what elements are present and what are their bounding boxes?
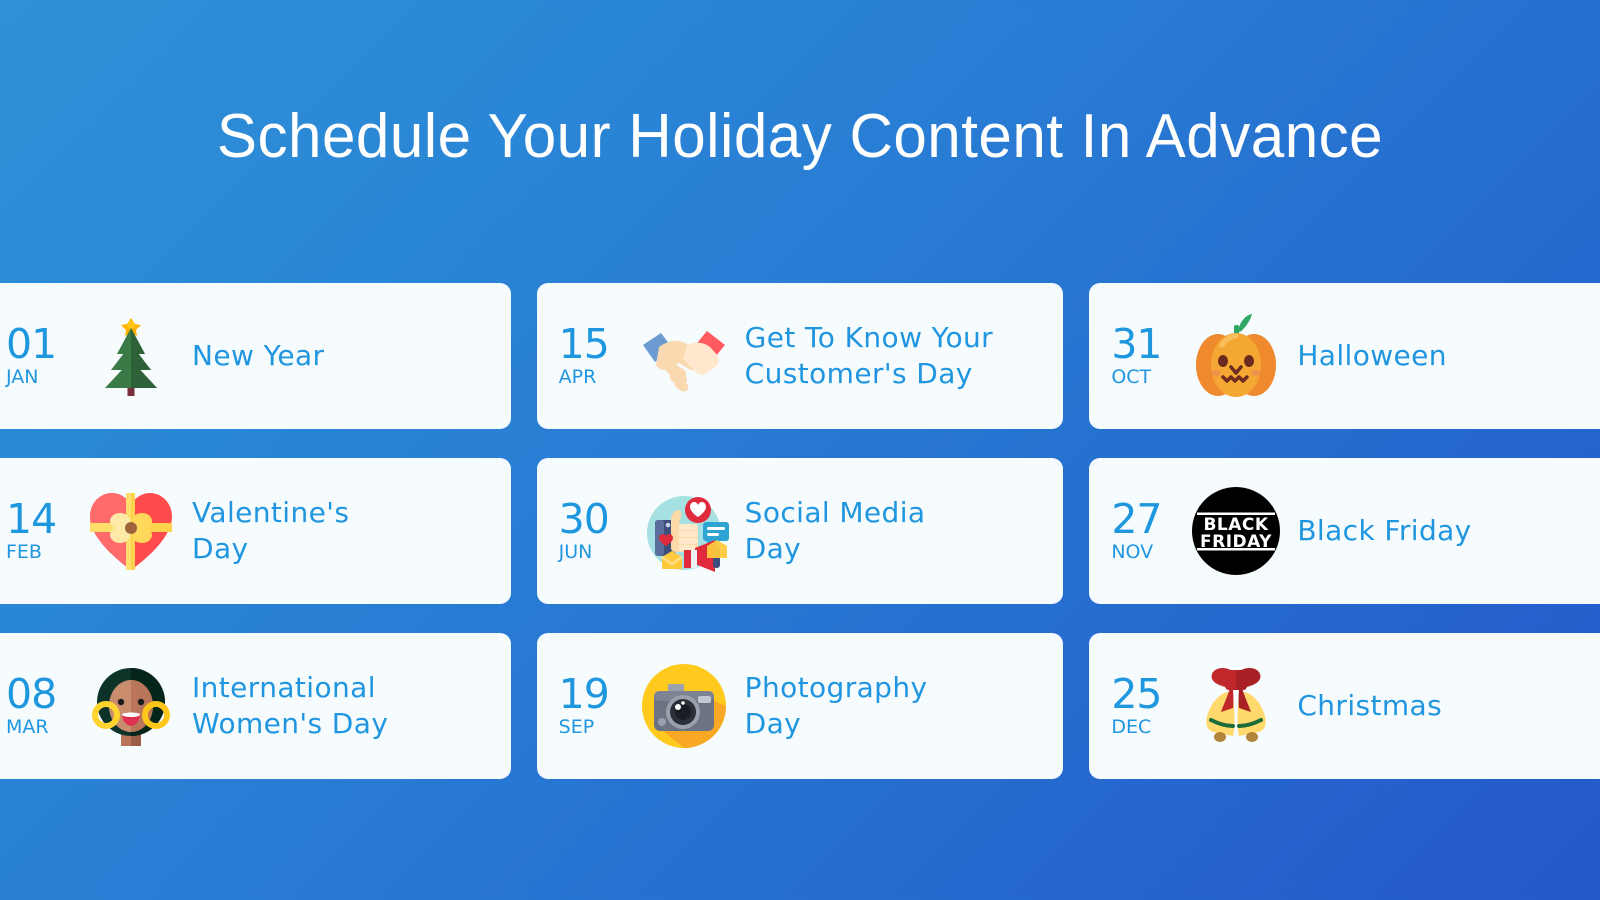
date-block: 14 FEB [6, 500, 80, 563]
date-day: 27 [1111, 500, 1185, 539]
holiday-name: Get To Know Your Customer's Day [741, 320, 1050, 392]
date-month: DEC [1111, 718, 1185, 737]
holiday-card[interactable]: 19 SEP Photography Day [537, 633, 1064, 779]
date-day: 19 [559, 675, 633, 714]
date-month: OCT [1111, 368, 1185, 387]
holiday-name: Photography Day [741, 670, 1050, 742]
holiday-card-grid: 01 JAN New Year 15 APR [0, 283, 1600, 779]
date-block: 31 OCT [1111, 325, 1185, 388]
holiday-card[interactable]: 01 JAN New Year [0, 283, 511, 429]
date-day: 25 [1111, 675, 1185, 714]
heart-with-ribbon-icon [82, 482, 180, 580]
holiday-card[interactable]: 30 JUN [537, 458, 1064, 604]
date-month: JAN [6, 368, 80, 387]
date-month: SEP [559, 718, 633, 737]
social-media-icon [635, 482, 733, 580]
header: Schedule Your Holiday Content In Advance [0, 0, 1600, 169]
handshake-icon [635, 307, 733, 405]
holiday-name: New Year [188, 338, 497, 374]
holiday-card[interactable]: 14 FEB Valentine's Day [0, 458, 511, 604]
holiday-name: Halloween [1293, 338, 1600, 374]
black-friday-badge-icon: BLACK FRIDAY [1187, 482, 1285, 580]
date-month: MAR [6, 718, 80, 737]
date-block: 30 JUN [559, 500, 633, 563]
date-month: FEB [6, 543, 80, 562]
holiday-card[interactable]: 15 APR Get To Know Your Customer's Day [537, 283, 1064, 429]
holiday-card[interactable]: 31 OCT Halloween [1089, 283, 1600, 429]
date-month: JUN [559, 543, 633, 562]
holiday-card[interactable]: 27 NOV BLACK FRIDAY Black Friday [1089, 458, 1600, 604]
camera-icon [635, 657, 733, 755]
christmas-bells-icon [1187, 657, 1285, 755]
holiday-card[interactable]: 25 DEC Christmas [1089, 633, 1600, 779]
date-block: 27 NOV [1111, 500, 1185, 563]
date-day: 08 [6, 675, 80, 714]
date-block: 15 APR [559, 325, 633, 388]
date-month: APR [559, 368, 633, 387]
date-day: 15 [559, 325, 633, 364]
holiday-name: Social Media Day [741, 495, 1050, 567]
christmas-tree-icon [82, 307, 180, 405]
date-day: 01 [6, 325, 80, 364]
jack-o-lantern-icon [1187, 307, 1285, 405]
holiday-name: International Women's Day [188, 670, 497, 742]
date-day: 30 [559, 500, 633, 539]
holiday-name: Valentine's Day [188, 495, 497, 567]
woman-icon [82, 657, 180, 755]
date-block: 08 MAR [6, 675, 80, 738]
date-month: NOV [1111, 543, 1185, 562]
date-block: 25 DEC [1111, 675, 1185, 738]
holiday-name: Black Friday [1293, 513, 1600, 549]
holiday-name: Christmas [1293, 688, 1600, 724]
date-block: 01 JAN [6, 325, 80, 388]
date-block: 19 SEP [559, 675, 633, 738]
holiday-card[interactable]: 08 MAR International Women's Day [0, 633, 511, 779]
date-day: 14 [6, 500, 80, 539]
page-title: Schedule Your Holiday Content In Advance [24, 104, 1576, 169]
date-day: 31 [1111, 325, 1185, 364]
